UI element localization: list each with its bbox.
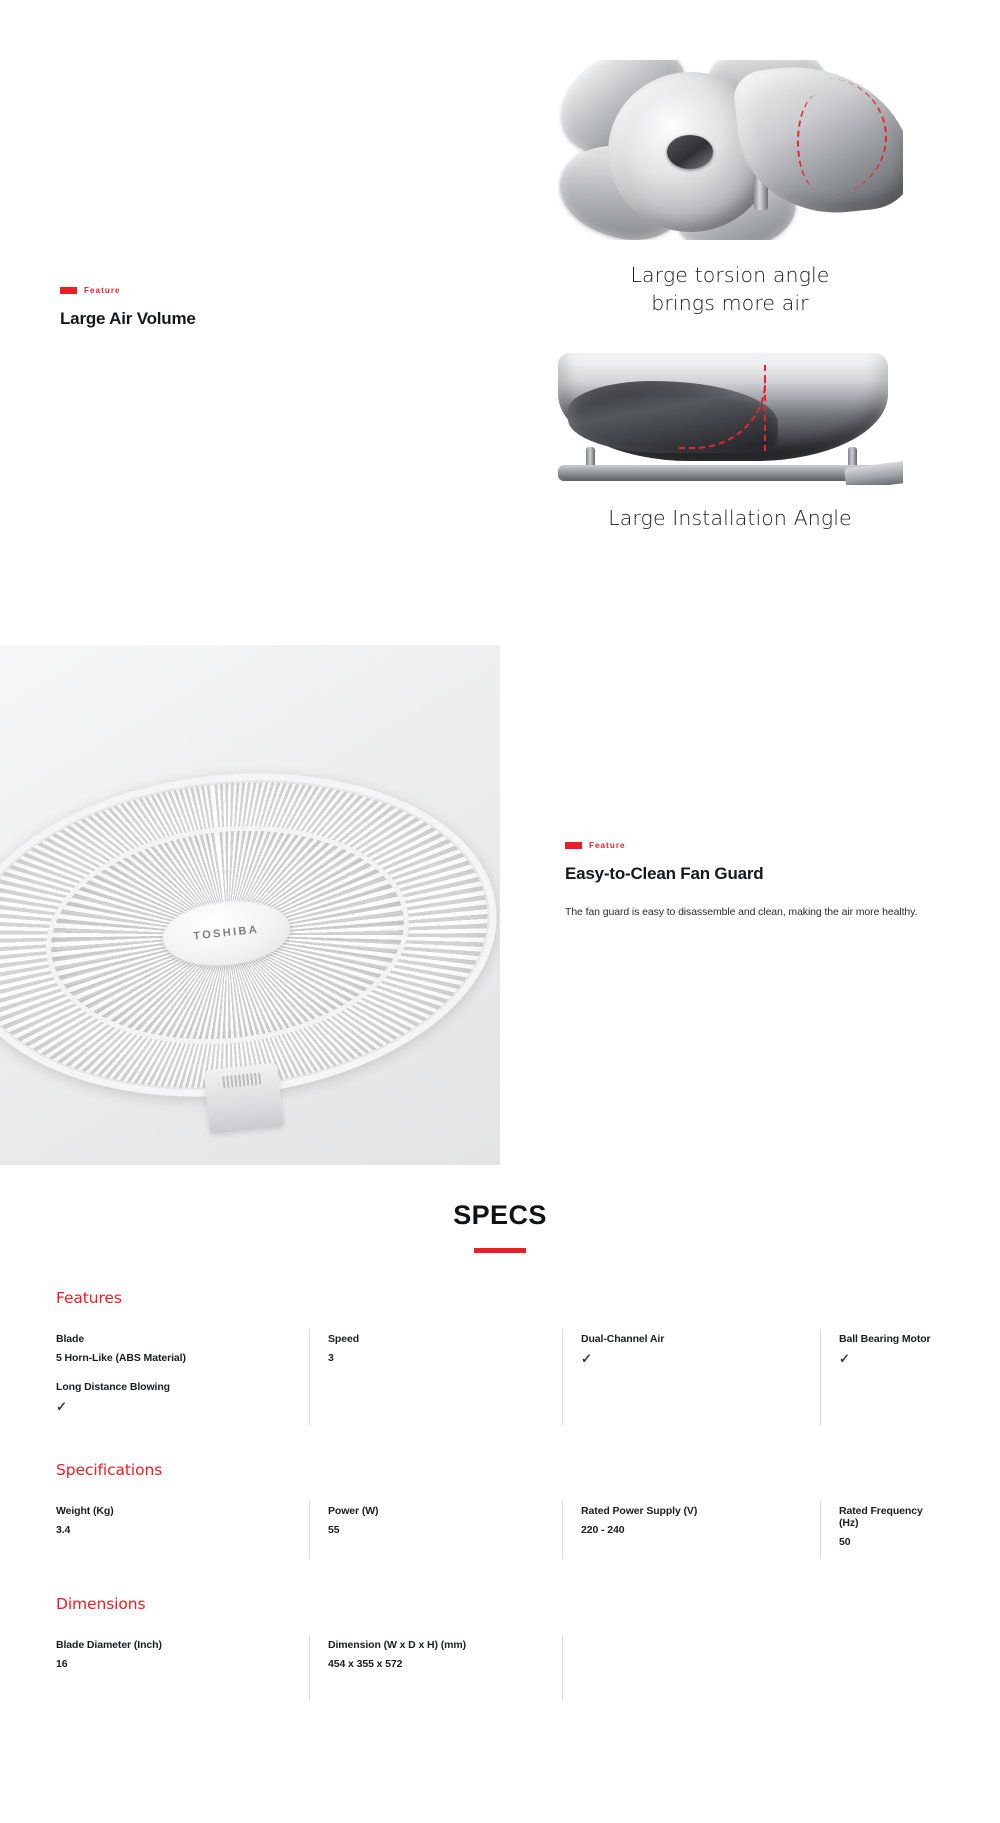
check-icon: ✓ [839, 1352, 850, 1365]
spec-column: Rated Frequency (Hz) 50 [820, 1501, 944, 1559]
feature-title-fan-guard: Easy-to-Clean Fan Guard [565, 864, 965, 884]
spec-value: 16 [56, 1658, 309, 1670]
spec-value: 55 [328, 1524, 562, 1536]
spec-entry: Blade 5 Horn-Like (ABS Material) [56, 1333, 309, 1364]
specs-heading: SPECS [0, 1165, 1000, 1231]
installation-angle-illustration: Large Installation Angle [558, 345, 903, 533]
spec-column: Blade Diameter (Inch) 16 [56, 1635, 309, 1701]
spec-group-specifications: Specifications Weight (Kg) 3.4 Power (W)… [0, 1461, 1000, 1559]
blade-rim-icon [558, 465, 888, 481]
spec-key: Weight (Kg) [56, 1505, 309, 1517]
spec-entry: Dual-Channel Air ✓ [581, 1333, 820, 1368]
installation-angle-dashed-line-icon [764, 365, 766, 451]
check-icon: ✓ [56, 1400, 67, 1413]
feature-tag-label: Feature [589, 841, 626, 850]
spec-value: 5 Horn-Like (ABS Material) [56, 1352, 309, 1364]
feature-tag-bar-icon [565, 842, 582, 849]
air-volume-text-block: Feature Large Air Volume [60, 286, 390, 329]
spec-group-title: Specifications [56, 1461, 944, 1479]
caption-torsion-angle: Large torsion angle brings more air [558, 262, 903, 317]
spec-key: Speed [328, 1333, 562, 1345]
spec-value: 50 [839, 1536, 944, 1548]
feature-tag: Feature [60, 286, 390, 295]
toshiba-logo: TOSHIBA [193, 924, 260, 943]
specs-heading-underline [474, 1248, 526, 1253]
fan-assembly: TOSHIBA [0, 748, 500, 1133]
fan-guard-product-photo: TOSHIBA [0, 645, 500, 1165]
spec-column: Weight (Kg) 3.4 [56, 1501, 309, 1559]
specs-section: SPECS Features Blade 5 Horn-Like (ABS Ma… [0, 1165, 1000, 1823]
feature-section-air-volume: Feature Large Air Volume Large torsion a… [0, 0, 1000, 620]
feature-tag-bar-icon [60, 287, 77, 294]
spec-key: Rated Frequency (Hz) [839, 1505, 944, 1529]
check-icon: ✓ [581, 1352, 592, 1365]
feature-tag-label: Feature [84, 286, 121, 295]
spec-column: Dual-Channel Air ✓ [562, 1329, 820, 1425]
fan-blade-torsion-image [558, 60, 903, 240]
spec-key: Blade Diameter (Inch) [56, 1639, 309, 1651]
torsion-angle-illustration: Large torsion angle brings more air [558, 60, 903, 317]
spec-key: Dual-Channel Air [581, 1333, 820, 1345]
spec-column: Blade 5 Horn-Like (ABS Material) Long Di… [56, 1329, 309, 1425]
air-volume-illustrations: Large torsion angle brings more air Larg… [500, 60, 960, 533]
spec-grid: Weight (Kg) 3.4 Power (W) 55 Rated Power… [56, 1501, 944, 1559]
spec-key: Rated Power Supply (V) [581, 1505, 820, 1517]
spec-key: Blade [56, 1333, 309, 1345]
spec-key: Power (W) [328, 1505, 562, 1517]
spec-column: Speed 3 [309, 1329, 562, 1425]
spec-value: 3 [328, 1352, 562, 1364]
spec-key: Ball Bearing Motor [839, 1333, 944, 1345]
feature-tag: Feature [565, 841, 965, 850]
spec-group-features: Features Blade 5 Horn-Like (ABS Material… [0, 1289, 1000, 1425]
feature-section-fan-guard: TOSHIBA Feature Easy-to-Clean Fan Guard … [0, 645, 1000, 1165]
spec-entry: Long Distance Blowing ✓ [56, 1381, 309, 1416]
feature-title-air-volume: Large Air Volume [60, 309, 390, 329]
spec-column: Rated Power Supply (V) 220 - 240 [562, 1501, 820, 1559]
spec-column-empty [820, 1635, 944, 1701]
spec-column: Dimension (W x D x H) (mm) 454 x 355 x 5… [309, 1635, 562, 1701]
spec-column: Ball Bearing Motor ✓ [820, 1329, 944, 1425]
spec-column: Power (W) 55 [309, 1501, 562, 1559]
fan-stem-icon [203, 1063, 283, 1134]
spec-grid: Blade Diameter (Inch) 16 Dimension (W x … [56, 1635, 944, 1701]
spec-value: 3.4 [56, 1524, 309, 1536]
spec-entry: Speed 3 [328, 1333, 562, 1364]
spec-value: 220 - 240 [581, 1524, 820, 1536]
spec-group-title: Dimensions [56, 1595, 944, 1613]
spec-value: 454 x 355 x 572 [328, 1658, 562, 1670]
spec-entry: Ball Bearing Motor ✓ [839, 1333, 944, 1368]
spec-key: Long Distance Blowing [56, 1381, 309, 1393]
spec-group-dimensions: Dimensions Blade Diameter (Inch) 16 Dime… [0, 1595, 1000, 1701]
spec-key: Dimension (W x D x H) (mm) [328, 1639, 562, 1651]
torsion-angle-dashed-arc-icon [797, 94, 841, 190]
feature-description-fan-guard: The fan guard is easy to disassemble and… [565, 906, 965, 918]
fan-blade-installation-image [558, 345, 903, 485]
spec-column-empty [562, 1635, 820, 1701]
fan-guard-text-block: Feature Easy-to-Clean Fan Guard The fan … [565, 841, 965, 918]
spec-group-title: Features [56, 1289, 944, 1307]
spec-grid: Blade 5 Horn-Like (ABS Material) Long Di… [56, 1329, 944, 1425]
caption-installation-angle: Large Installation Angle [558, 505, 903, 533]
